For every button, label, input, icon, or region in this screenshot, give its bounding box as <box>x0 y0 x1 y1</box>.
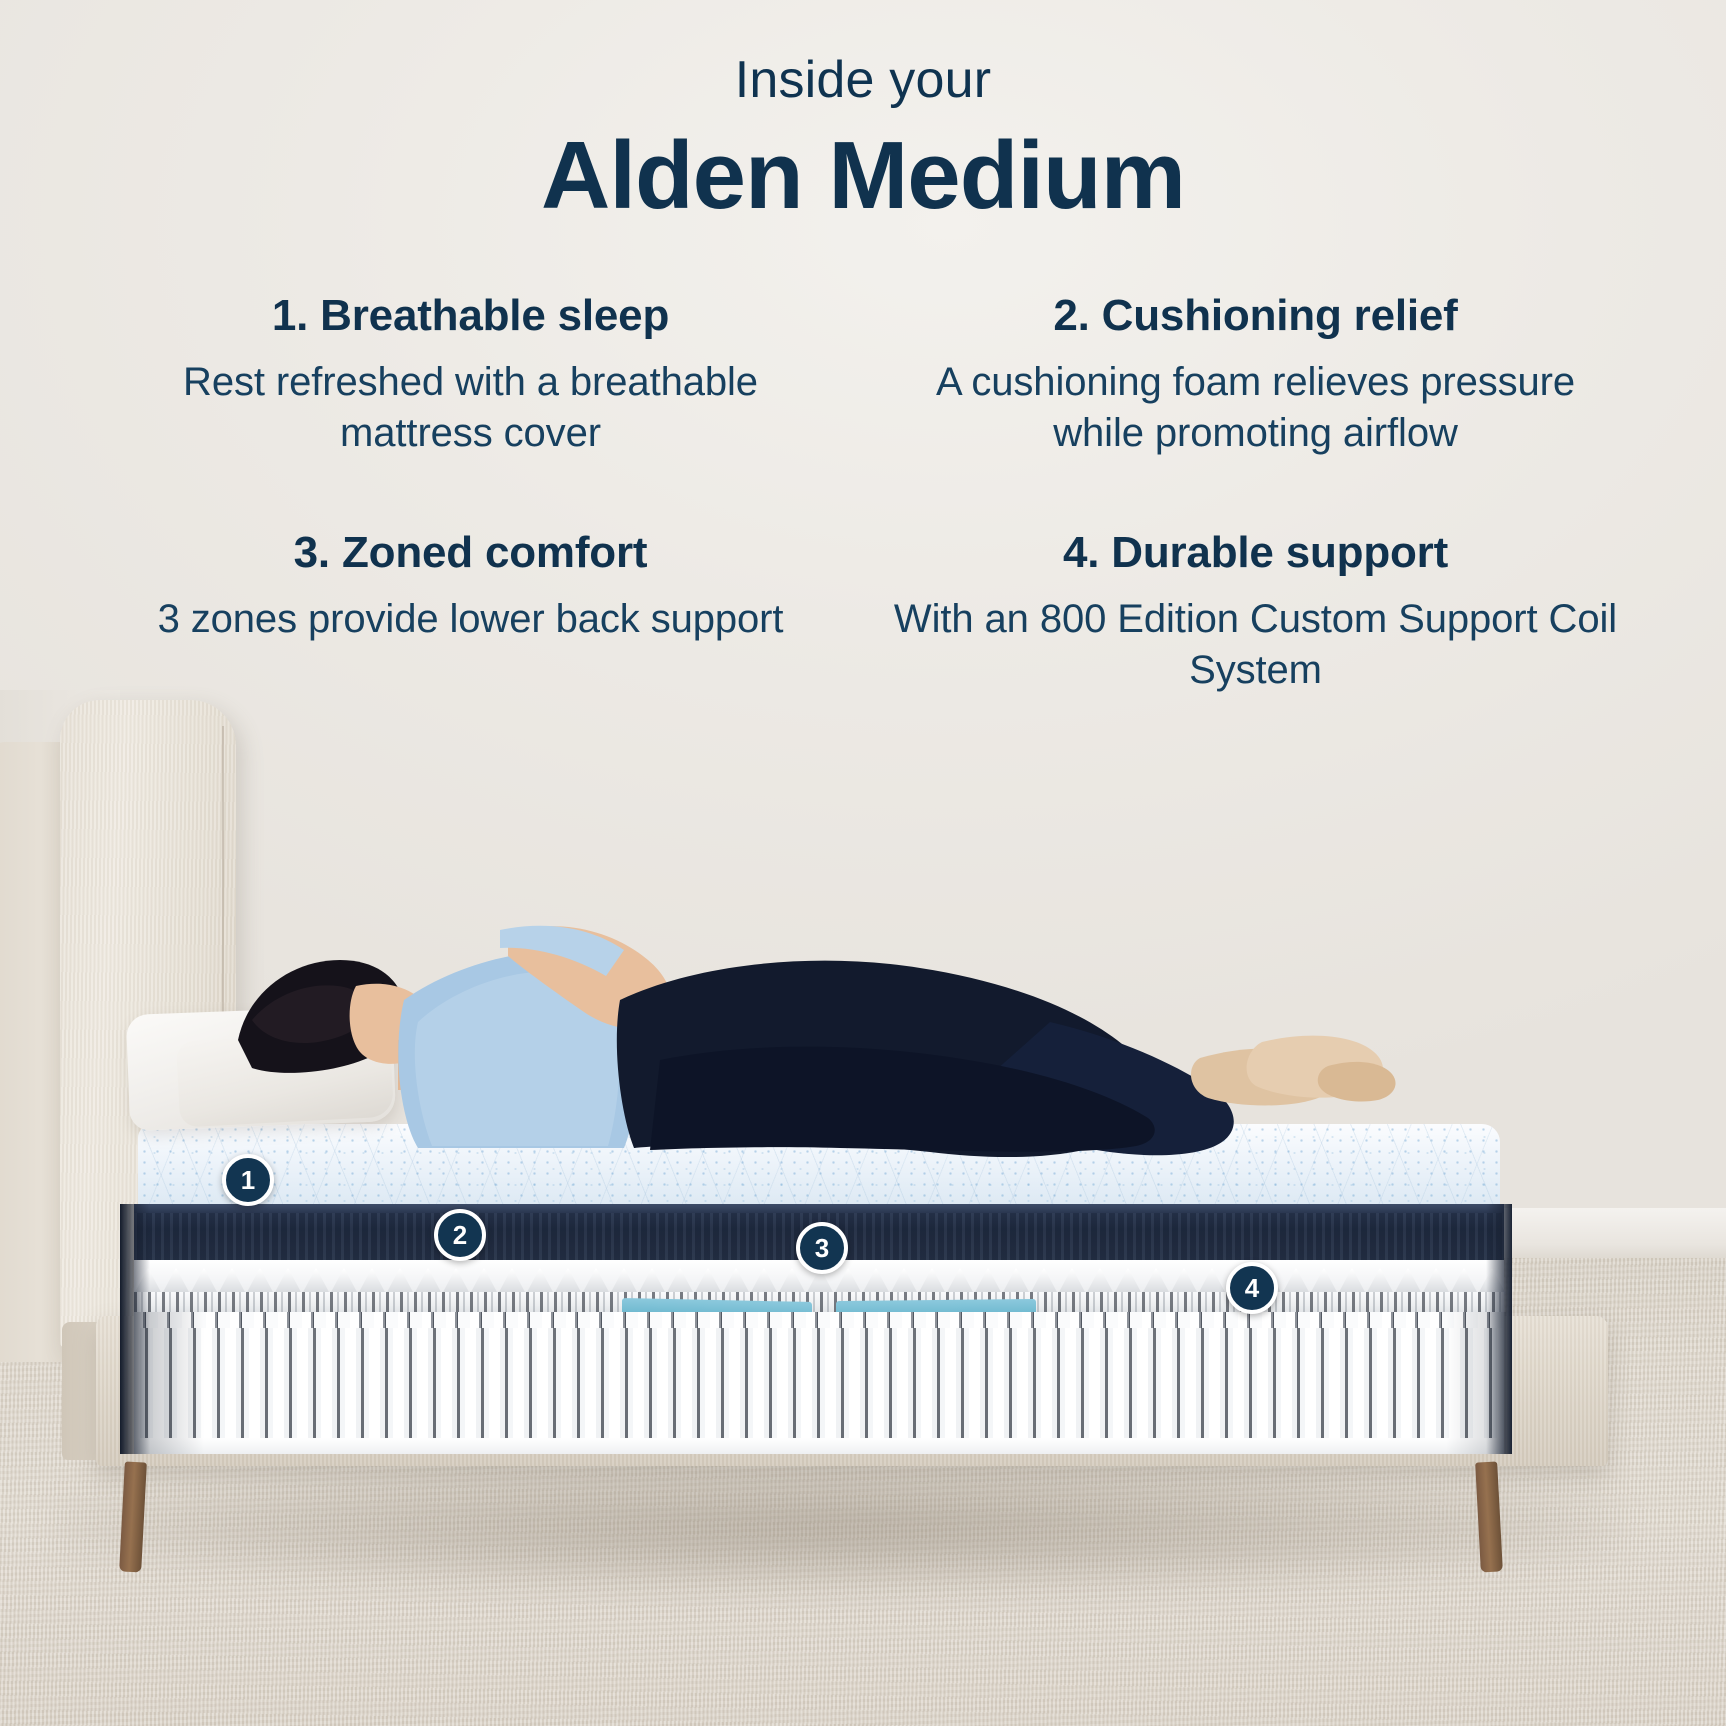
foam-peak <box>330 1264 358 1294</box>
feature-title: 3. Zoned comfort <box>108 527 833 580</box>
foam-peak <box>1114 1264 1142 1294</box>
mattress-right-edge-shadow <box>1486 1204 1512 1454</box>
foam-peak <box>358 1264 386 1294</box>
feature-item-3: 3. Zoned comfort 3 zones provide lower b… <box>108 527 833 696</box>
foam-peak <box>470 1264 498 1294</box>
foam-peak <box>1338 1264 1366 1294</box>
foam-peak <box>862 1264 890 1294</box>
feature-description: A cushioning foam relieves pressure whil… <box>893 357 1618 459</box>
page-title: Alden Medium <box>0 121 1726 231</box>
mattress-left-edge-shadow <box>120 1204 150 1454</box>
foam-peak <box>974 1264 1002 1294</box>
foam-peak <box>190 1264 218 1294</box>
foam-peak <box>554 1264 582 1294</box>
foam-peak <box>1282 1264 1310 1294</box>
badge-marker-2[interactable]: 2 <box>434 1209 486 1261</box>
promo-image-stage: Inside your Alden Medium 1. Breathable s… <box>0 0 1726 1726</box>
foam-peak <box>1058 1264 1086 1294</box>
cover-speckle-texture <box>138 1124 1500 1210</box>
foam-peak <box>218 1264 246 1294</box>
foam-peak <box>610 1264 638 1294</box>
feature-title: 4. Durable support <box>893 527 1618 580</box>
foam-peak <box>1142 1264 1170 1294</box>
foam-peak <box>302 1264 330 1294</box>
foam-peak <box>1170 1264 1198 1294</box>
foam-peak <box>694 1264 722 1294</box>
foam-peak <box>1394 1264 1422 1294</box>
foam-peak <box>246 1264 274 1294</box>
foam-peak <box>1198 1264 1226 1294</box>
feature-grid: 1. Breathable sleep Rest refreshed with … <box>108 290 1618 696</box>
foam-peak <box>1002 1264 1030 1294</box>
foam-peak <box>750 1264 778 1294</box>
foam-peak <box>1030 1264 1058 1294</box>
badge-marker-3[interactable]: 3 <box>796 1222 848 1274</box>
foam-peak <box>162 1264 190 1294</box>
feature-item-2: 2. Cushioning relief A cushioning foam r… <box>893 290 1618 459</box>
foam-peak <box>414 1264 442 1294</box>
foam-peak <box>778 1264 806 1294</box>
pillow-front-fold <box>176 1030 394 1127</box>
bed-floor-shadow <box>60 1460 1620 1590</box>
badge-marker-4[interactable]: 4 <box>1226 1262 1278 1314</box>
feature-item-4: 4. Durable support With an 800 Edition C… <box>893 527 1618 696</box>
coil-unit-top-cap <box>134 1312 1504 1328</box>
foam-peak <box>386 1264 414 1294</box>
foam-peak <box>946 1264 974 1294</box>
foam-peak <box>638 1264 666 1294</box>
foam-peak <box>1422 1264 1450 1294</box>
foam-peak <box>1450 1264 1478 1294</box>
foam-peak <box>582 1264 610 1294</box>
pocket-coil-support-unit <box>134 1312 1504 1450</box>
header-block: Inside your Alden Medium <box>0 52 1726 232</box>
foam-peak <box>442 1264 470 1294</box>
foam-peak <box>1086 1264 1114 1294</box>
feature-title: 2. Cushioning relief <box>893 290 1618 343</box>
badge-marker-1[interactable]: 1 <box>222 1154 274 1206</box>
foam-peak <box>526 1264 554 1294</box>
foam-peak <box>834 1264 862 1294</box>
feature-description: 3 zones provide lower back support <box>108 594 833 645</box>
foam-peak <box>274 1264 302 1294</box>
foam-peak <box>722 1264 750 1294</box>
feature-description: Rest refreshed with a breathable mattres… <box>108 357 833 459</box>
eyebrow-text: Inside your <box>0 52 1726 109</box>
foam-peak <box>666 1264 694 1294</box>
feature-item-1: 1. Breathable sleep Rest refreshed with … <box>108 290 833 459</box>
foam-peak <box>1310 1264 1338 1294</box>
foam-peak <box>498 1264 526 1294</box>
feature-title: 1. Breathable sleep <box>108 290 833 343</box>
foam-peak <box>918 1264 946 1294</box>
foam-peak <box>890 1264 918 1294</box>
foam-peak <box>1366 1264 1394 1294</box>
coil-unit-base <box>134 1438 1504 1454</box>
gusset-highlight <box>134 1204 1504 1213</box>
micro-coil-strip <box>134 1292 1504 1314</box>
feature-description: With an 800 Edition Custom Support Coil … <box>893 594 1618 696</box>
